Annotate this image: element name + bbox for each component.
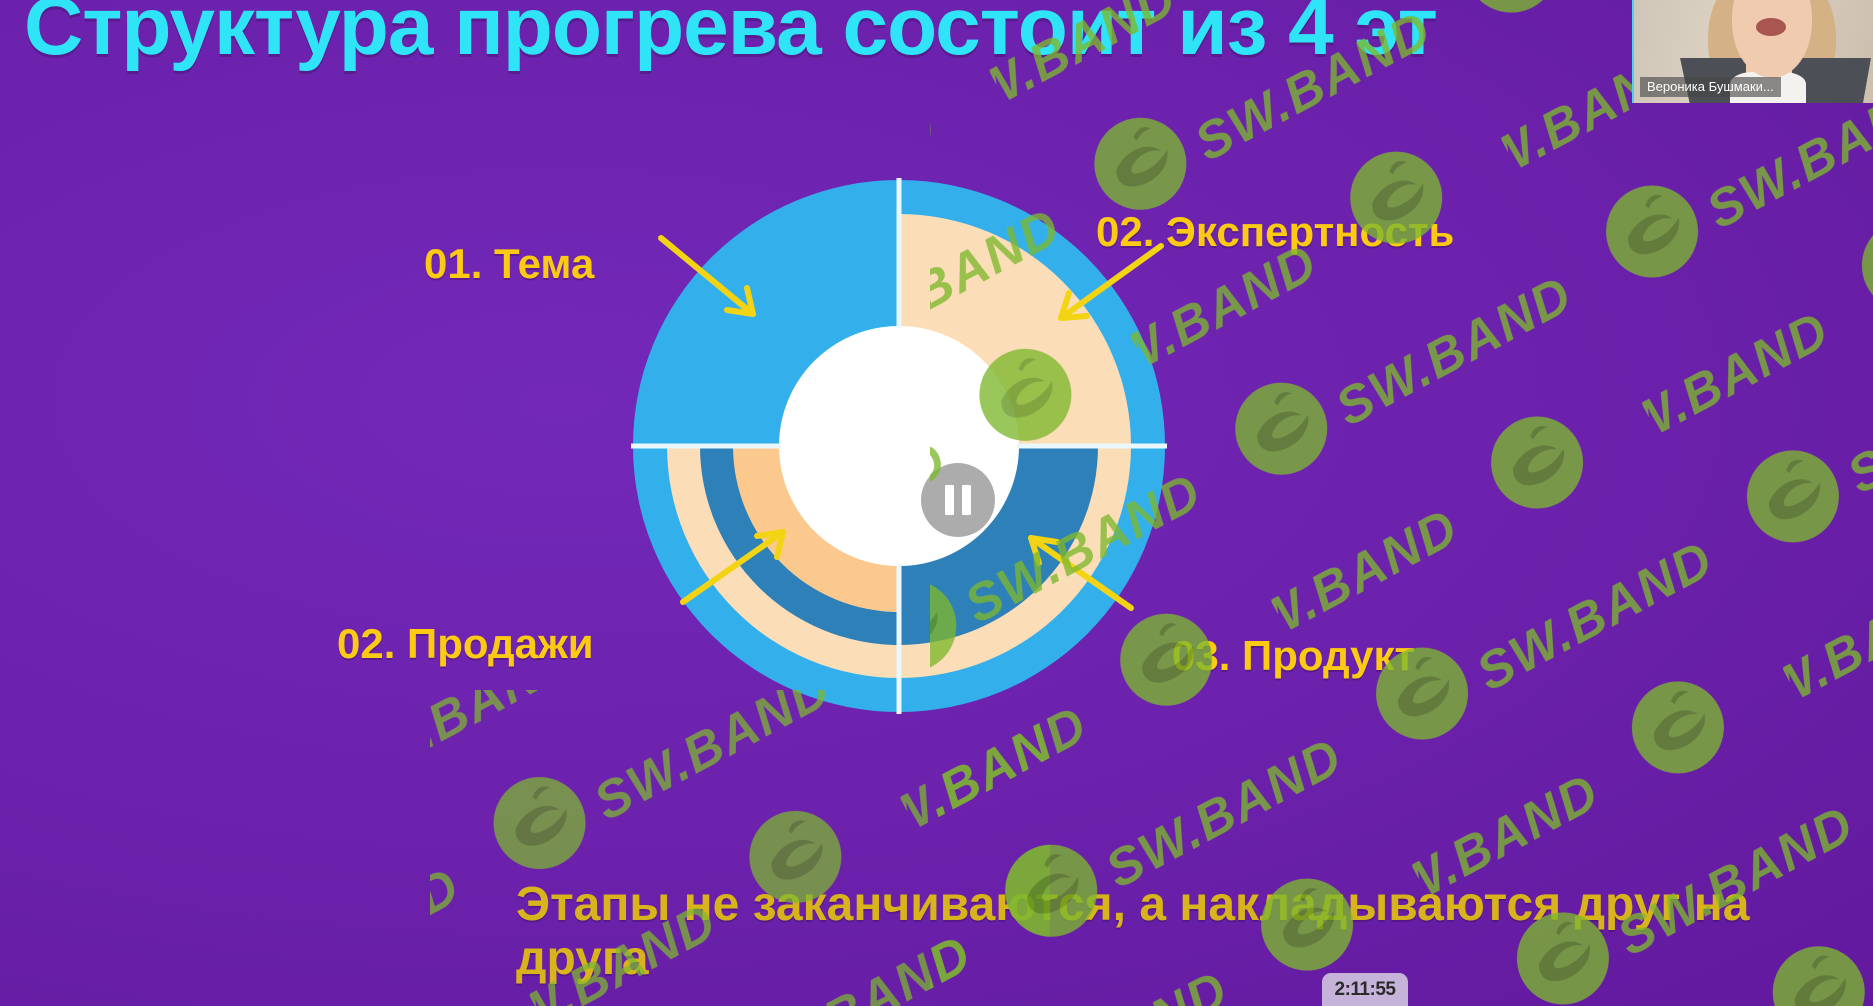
pause-bar-right <box>962 485 971 515</box>
chart-label-tema: 01. Тема <box>424 240 594 288</box>
pause-bar-left <box>945 485 954 515</box>
chart-label-produkt: 03. Продукт <box>1172 632 1415 680</box>
pause-icon[interactable] <box>921 463 995 537</box>
participant-name-badge: Вероника Бушмаки... <box>1640 77 1781 97</box>
donut-center-hole-top <box>781 328 1017 564</box>
chart-label-prodaji: 02. Продажи <box>337 620 594 668</box>
playback-timestamp[interactable]: 2:11:55 <box>1322 973 1408 1006</box>
slide-stage: Структура прогрева состоит из 4 эт <box>0 0 1873 1006</box>
slide-title: Структура прогрева состоит из 4 эт <box>24 0 1724 70</box>
slide-caption: Этапы не заканчиваются, а накладываются … <box>516 878 1776 986</box>
warmup-structure-donut-chart <box>631 178 1167 714</box>
chart-label-expertnost: 02. Экспертность <box>1096 208 1454 256</box>
donut-svg <box>631 178 1167 714</box>
webcam-tile[interactable]: Вероника Бушмаки... <box>1632 0 1873 103</box>
webcam-mouth <box>1756 18 1786 36</box>
